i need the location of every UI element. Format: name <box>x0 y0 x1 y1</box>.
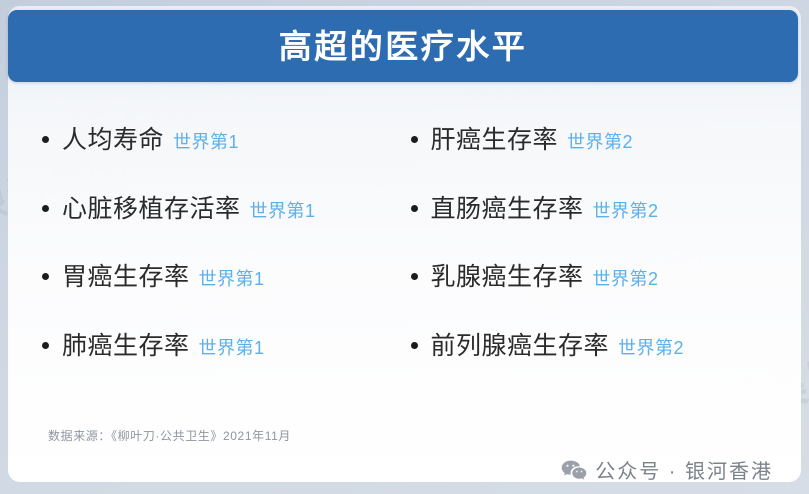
item-rank: 世界第1 <box>250 197 316 223</box>
item-rank: 世界第1 <box>199 334 265 360</box>
list-item: 直肠癌生存率 世界第2 <box>411 189 802 258</box>
account-badge: 公众号 · 银河香港 <box>561 455 773 484</box>
item-label: 人均寿命 <box>62 120 164 156</box>
account-name: 公众号 · 银河香港 <box>595 455 773 484</box>
item-label: 前列腺癌生存率 <box>431 326 610 362</box>
title-banner: 高超的医疗水平 <box>8 10 798 82</box>
list-item: 心脏移植存活率 世界第1 <box>42 189 405 258</box>
bullet-columns: 人均寿命 世界第1 心脏移植存活率 世界第1 胃癌生存率 世界第1 肺癌生存率 … <box>8 104 801 394</box>
bullet-icon <box>411 205 418 212</box>
item-label: 心脏移植存活率 <box>62 189 241 225</box>
bullet-icon <box>411 136 418 143</box>
item-label: 肝癌生存率 <box>431 120 559 156</box>
list-item: 前列腺癌生存率 世界第2 <box>411 326 802 395</box>
bullet-icon <box>42 342 49 349</box>
page-title: 高超的医疗水平 <box>279 30 528 63</box>
item-rank: 世界第2 <box>618 334 684 360</box>
column-right: 肝癌生存率 世界第2 直肠癌生存率 世界第2 乳腺癌生存率 世界第2 前列腺癌生… <box>405 104 802 394</box>
list-item: 肺癌生存率 世界第1 <box>42 326 405 395</box>
list-item: 胃癌生存率 世界第1 <box>42 257 405 326</box>
data-source-note: 数据来源：《柳叶刀·公共卫生》2021年11月 <box>48 427 291 444</box>
item-label: 乳腺癌生存率 <box>431 257 584 293</box>
slide-canvas: 银河集团 YINHE 银河集团 YINHE 银河集团 YINHE 银河集团 YI… <box>0 0 809 494</box>
bullet-icon <box>411 273 418 280</box>
list-item: 乳腺癌生存率 世界第2 <box>411 257 802 326</box>
list-item: 肝癌生存率 世界第2 <box>411 120 802 189</box>
item-rank: 世界第2 <box>567 128 633 154</box>
item-label: 肺癌生存率 <box>62 326 190 362</box>
item-rank: 世界第1 <box>173 128 239 154</box>
item-rank: 世界第1 <box>199 265 265 291</box>
list-item: 人均寿命 世界第1 <box>42 120 405 189</box>
bullet-icon <box>42 136 49 143</box>
item-label: 直肠癌生存率 <box>431 189 584 225</box>
bullet-icon <box>42 273 49 280</box>
item-rank: 世界第2 <box>593 265 659 291</box>
item-label: 胃癌生存率 <box>62 257 190 293</box>
wechat-icon <box>561 459 587 481</box>
column-left: 人均寿命 世界第1 心脏移植存活率 世界第1 胃癌生存率 世界第1 肺癌生存率 … <box>8 104 405 394</box>
item-rank: 世界第2 <box>593 197 659 223</box>
bullet-icon <box>42 205 49 212</box>
bullet-icon <box>411 342 418 349</box>
